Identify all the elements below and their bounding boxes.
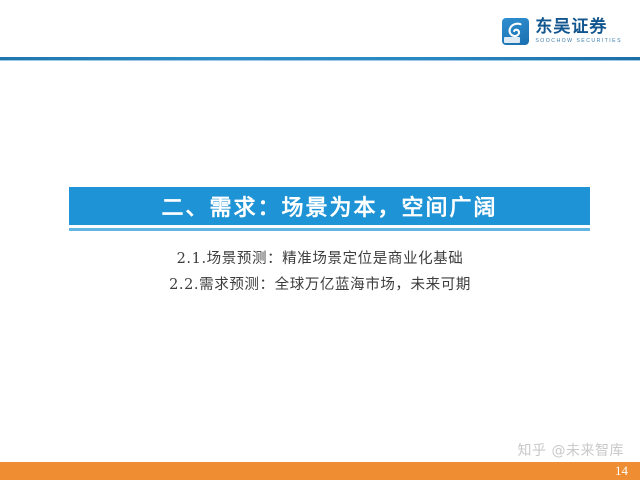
logo-chinese-name: 东吴证券 bbox=[535, 19, 622, 36]
section-title-banner: 二、需求：场景为本，空间广阔 bbox=[69, 187, 590, 225]
section-subitem-list: 2.1.场景预测：精准场景定位是商业化基础 2.2.需求预测：全球万亿蓝海市场，… bbox=[0, 247, 640, 294]
list-item: 2.1.场景预测：精准场景定位是商业化基础 bbox=[177, 247, 464, 268]
watermark-brand: 知乎 bbox=[518, 440, 547, 460]
list-item: 2.2.需求预测：全球万亿蓝海市场，未来可期 bbox=[169, 273, 471, 294]
watermark-handle: @未来智库 bbox=[552, 440, 625, 460]
footer-bar bbox=[0, 462, 640, 480]
watermark: 知乎 @未来智库 bbox=[518, 440, 625, 460]
company-logo: 东吴证券 SOOCHOW SECURITIES bbox=[502, 18, 622, 45]
slide-header: 东吴证券 SOOCHOW SECURITIES bbox=[0, 0, 640, 58]
logo-text-block: 东吴证券 SOOCHOW SECURITIES bbox=[535, 19, 622, 44]
slide-canvas: 东吴证券 SOOCHOW SECURITIES 二、需求：场景为本，空间广阔 2… bbox=[0, 0, 640, 480]
soochow-securities-swirl-mark-icon bbox=[502, 18, 529, 45]
header-divider-line-soft bbox=[0, 60, 640, 61]
page-number: 14 bbox=[615, 463, 628, 479]
logo-english-name: SOOCHOW SECURITIES bbox=[535, 39, 622, 44]
section-title-text: 二、需求：场景为本，空间广阔 bbox=[161, 190, 497, 222]
logo-tag-icon bbox=[504, 37, 520, 43]
section-banner-underline bbox=[69, 228, 590, 231]
